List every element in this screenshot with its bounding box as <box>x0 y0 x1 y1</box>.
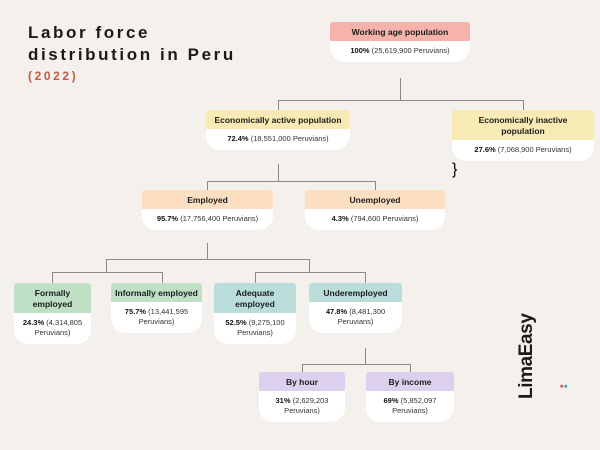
page-title: Labor force distribution in Peru (2022) <box>28 22 236 83</box>
node-formally-employed-value: 24.3% (4,314,805 Peruvians) <box>14 313 91 344</box>
connector-to-formally <box>52 272 53 283</box>
connector-to-active <box>278 100 279 110</box>
node-by-income-label: By income <box>366 372 454 393</box>
node-informally-employed[interactable]: Informally employed 75.7% (13,441,595 Pe… <box>111 283 202 333</box>
node-working-age[interactable]: Working age population 100% (25,619,900 … <box>330 22 470 62</box>
title-line-1: Labor force <box>28 22 236 44</box>
connector-to-by-income <box>410 364 411 372</box>
node-adequate-employed[interactable]: Adequate employed 52.5% (9,275,100 Peruv… <box>214 283 296 344</box>
node-by-income-percent: 69% <box>384 396 399 405</box>
node-underemployed-label: Underemployed <box>309 283 402 304</box>
node-economically-inactive-percent: 27.6% <box>474 145 495 154</box>
node-economically-inactive-count: (7,068,900 Peruvians) <box>498 145 572 154</box>
connector-to-by-hour <box>302 364 303 372</box>
connector-to-employed <box>207 181 208 190</box>
node-economically-inactive[interactable]: Economically inactive population 27.6% (… <box>452 110 594 179</box>
node-adequate-employed-label: Adequate employed <box>214 283 296 315</box>
node-economically-active-value: 72.4% (18,551,000 Peruvians) <box>206 129 350 150</box>
node-by-income[interactable]: By income 69% (5,852,097 Peruvians) <box>366 372 454 422</box>
node-working-age-value: 100% (25,619,900 Peruvians) <box>330 41 470 62</box>
node-by-hour-label: By hour <box>259 372 345 393</box>
connector-level3-right-drop <box>309 259 310 272</box>
node-unemployed-value: 4.3% (794,600 Peruvians) <box>305 209 445 230</box>
node-formally-employed[interactable]: Formally employed 24.3% (4,314,805 Peruv… <box>14 283 91 344</box>
connector-to-underemployed <box>365 272 366 283</box>
node-unemployed[interactable]: Unemployed 4.3% (794,600 Peruvians) <box>305 190 445 230</box>
node-employed-label: Employed <box>142 190 273 211</box>
connector-active-stem <box>278 164 279 181</box>
node-underemployed-percent: 47.8% <box>326 307 347 316</box>
node-employed[interactable]: Employed 95.7% (17,756,400 Peruvians) <box>142 190 273 230</box>
connector-to-informally <box>162 272 163 283</box>
node-economically-inactive-value: 27.6% (7,068,900 Peruvians) <box>452 140 594 161</box>
node-working-age-percent: 100% <box>350 46 369 55</box>
node-by-hour-value: 31% (2,629,203 Peruvians) <box>259 391 345 422</box>
connector-underemployed-stem <box>365 348 366 364</box>
connector-level3-upper-bar <box>106 259 309 260</box>
logo-text: LimaEasy <box>516 313 538 399</box>
node-employed-count: (17,756,400 Peruvians) <box>180 214 258 223</box>
node-economically-active-percent: 72.4% <box>227 134 248 143</box>
connector-root-stem <box>400 78 401 100</box>
connector-employed-stem <box>207 243 208 259</box>
limaeasy-logo: LimaEasy <box>520 355 600 447</box>
node-economically-active-label: Economically active population <box>206 110 350 131</box>
node-by-hour-count: (2,629,203 Peruvians) <box>284 396 328 415</box>
connector-to-unemployed <box>375 181 376 190</box>
connector-level3-right-bar <box>255 272 365 273</box>
node-informally-employed-count: (13,441,595 Peruvians) <box>139 307 189 326</box>
node-adequate-employed-value: 52.5% (9,275,100 Peruvians) <box>214 313 296 344</box>
logo-dot-blue <box>564 385 567 388</box>
title-year: (2022) <box>28 69 236 83</box>
node-formally-employed-label: Formally employed <box>14 283 91 315</box>
node-adequate-employed-percent: 52.5% <box>225 318 246 327</box>
connector-level3-left-drop <box>106 259 107 272</box>
node-working-age-count: (25,619,900 Peruvians) <box>372 46 450 55</box>
node-unemployed-label: Unemployed <box>305 190 445 211</box>
logo-dots-icon <box>558 385 569 388</box>
connector-level1-bar <box>278 100 523 101</box>
node-unemployed-count: (794,600 Peruvians) <box>351 214 419 223</box>
node-employed-value: 95.7% (17,756,400 Peruvians) <box>142 209 273 230</box>
connector-to-adequate <box>255 272 256 283</box>
node-underemployed-value: 47.8% (8,481,300 Peruvians) <box>309 302 402 333</box>
node-informally-employed-label: Informally employed <box>111 283 202 304</box>
node-informally-employed-percent: 75.7% <box>125 307 146 316</box>
node-formally-employed-percent: 24.3% <box>23 318 44 327</box>
connector-to-inactive <box>523 100 524 110</box>
node-by-hour-percent: 31% <box>276 396 291 405</box>
node-by-income-value: 69% (5,852,097 Peruvians) <box>366 391 454 422</box>
node-working-age-label: Working age population <box>330 22 470 43</box>
node-informally-employed-value: 75.7% (13,441,595 Peruvians) <box>111 302 202 333</box>
node-unemployed-percent: 4.3% <box>332 214 349 223</box>
connector-level4-bar <box>302 364 410 365</box>
node-economically-active[interactable]: Economically active population 72.4% (18… <box>206 110 350 150</box>
node-underemployed[interactable]: Underemployed 47.8% (8,481,300 Peruvians… <box>309 283 402 333</box>
connector-level2-bar <box>207 181 375 182</box>
node-by-hour[interactable]: By hour 31% (2,629,203 Peruvians) <box>259 372 345 422</box>
node-economically-inactive-label: Economically inactive population <box>452 110 594 142</box>
title-line-2: distribution in Peru <box>28 44 236 66</box>
logo-dot-red <box>560 385 563 388</box>
node-economically-active-count: (18,551,000 Peruvians) <box>251 134 329 143</box>
node-employed-percent: 95.7% <box>157 214 178 223</box>
connector-level3-left-bar <box>52 272 162 273</box>
node-by-income-count: (5,852,097 Peruvians) <box>392 396 436 415</box>
